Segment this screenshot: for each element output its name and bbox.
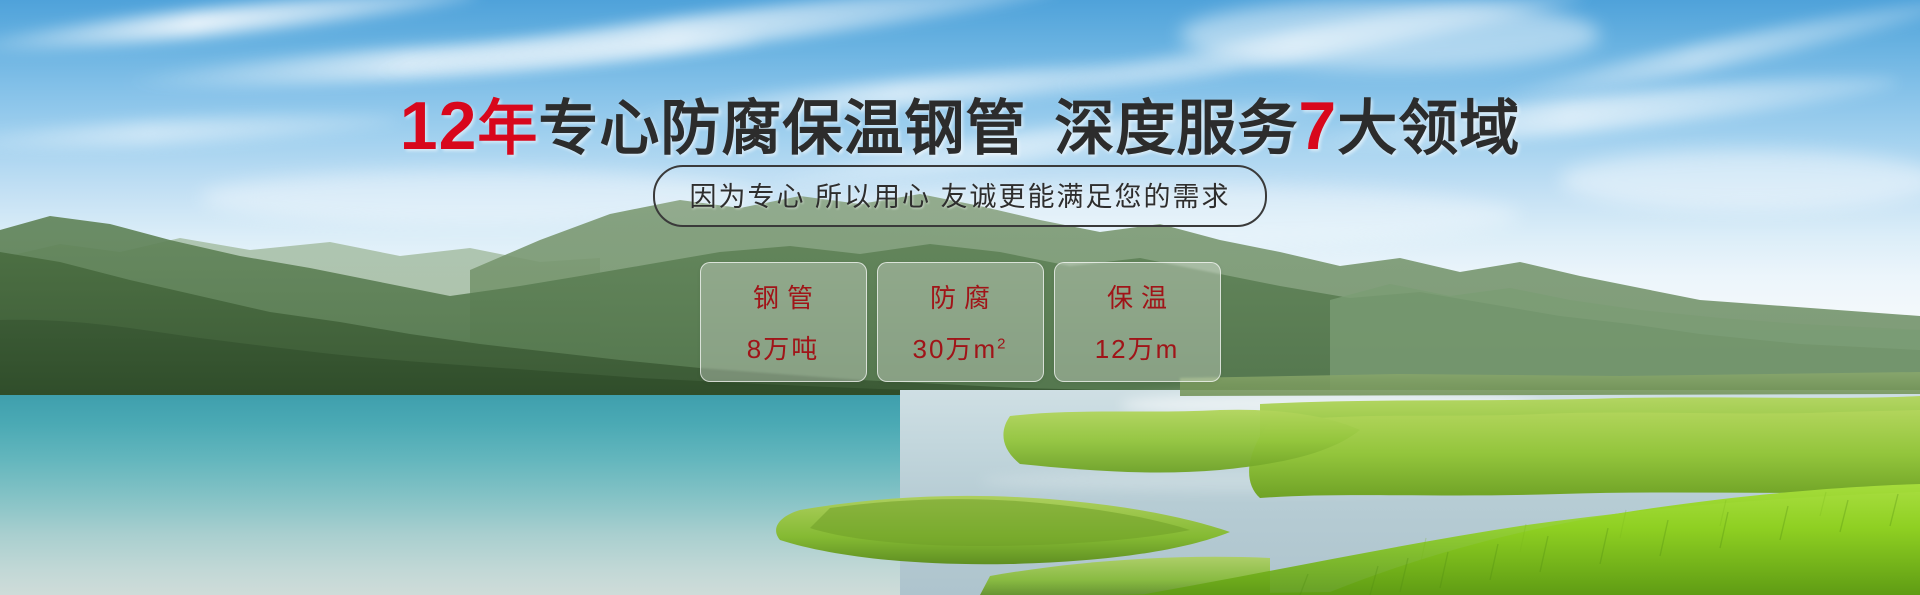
stat-card-insulation[interactable]: 保温 12万m (1054, 262, 1221, 382)
subtitle-container: 因为专心 所以用心 友诚更能满足您的需求 (0, 165, 1920, 227)
headline-fields-text: 大领域 (1337, 95, 1520, 162)
stat-card-value: 30万m2 (913, 329, 1008, 366)
stat-card-label: 钢管 (745, 278, 821, 315)
stat-card-steel-pipe[interactable]: 钢管 8万吨 (700, 262, 867, 382)
headline-main-text: 专心防腐保温钢管 (538, 95, 1026, 162)
stat-card-value-superscript: 2 (997, 335, 1007, 352)
headline-years-unit: 年 (477, 95, 538, 162)
stat-card-value: 12万m (1095, 329, 1180, 366)
stat-card-label: 保温 (1099, 278, 1175, 315)
headline-years-number: 12 (400, 88, 478, 164)
subtitle-pill: 因为专心 所以用心 友诚更能满足您的需求 (653, 165, 1266, 227)
stat-card-anticorrosion[interactable]: 防腐 30万m2 (877, 262, 1044, 382)
hero-banner: 12年专心防腐保温钢管深度服务7大领域 因为专心 所以用心 友诚更能满足您的需求… (0, 0, 1920, 595)
stat-cards: 钢管 8万吨 防腐 30万m2 保温 12万m (0, 262, 1920, 382)
headline-fields-number: 7 (1298, 88, 1337, 164)
stat-card-value: 8万吨 (747, 329, 819, 366)
stat-card-label: 防腐 (922, 278, 998, 315)
wetland-and-grass (0, 360, 1920, 595)
headline-service-text: 深度服务 (1054, 95, 1298, 162)
page-title: 12年专心防腐保温钢管深度服务7大领域 (0, 80, 1920, 167)
